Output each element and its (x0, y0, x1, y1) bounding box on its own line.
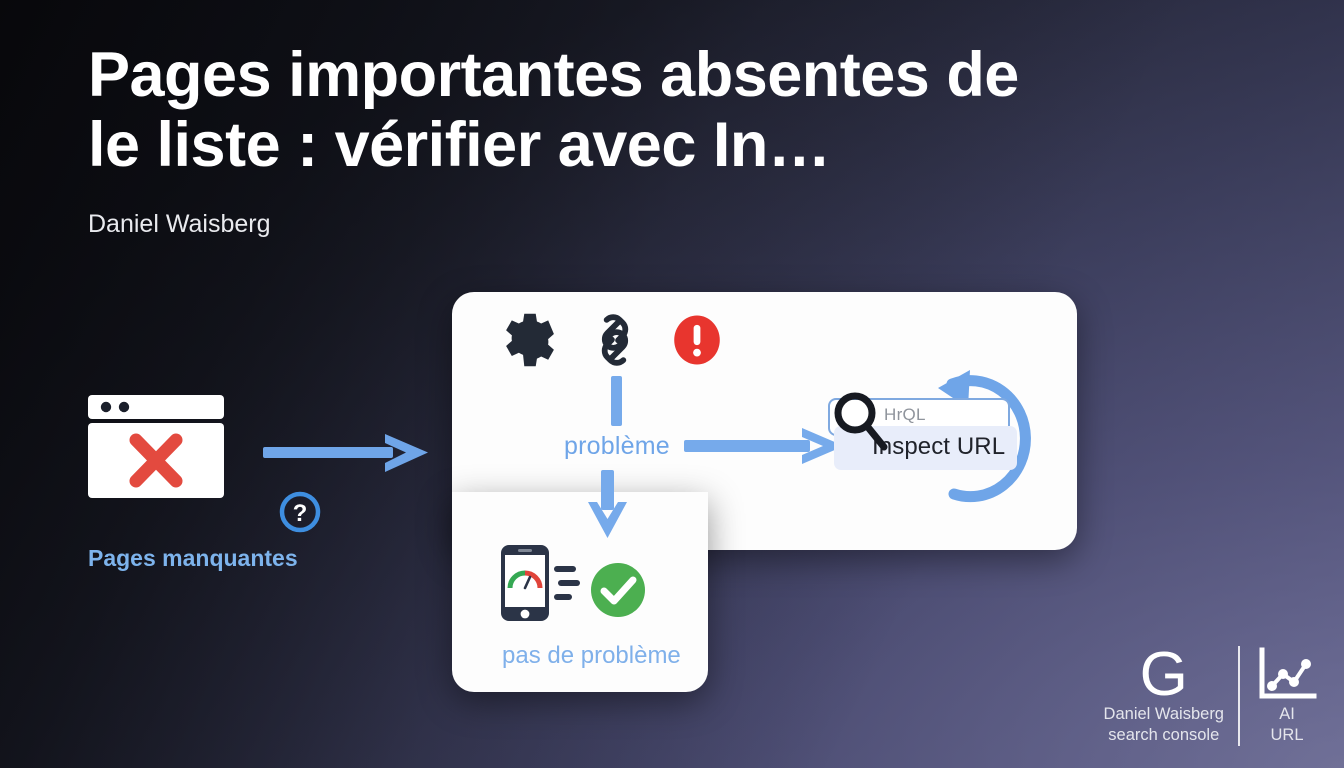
search-console-brand: G Daniel Waisberg search console (1104, 646, 1224, 746)
branch-problem-label: problème (564, 432, 670, 461)
phone-speed-gauge-icon (500, 544, 550, 622)
missing-pages-label: Pages manquantes (88, 545, 298, 572)
alert-error-icon (670, 313, 724, 367)
page-title: Pages importantes absentes de le liste :… (88, 40, 1038, 180)
inspect-url-label: Inspect URL (872, 433, 1005, 461)
question-circle-icon[interactable]: ? (278, 490, 322, 534)
brand-right-line2: URL (1270, 725, 1303, 746)
search-placeholder: HrQL (884, 405, 926, 425)
check-circle-icon (590, 562, 646, 618)
ai-url-brand: AI URL (1238, 646, 1318, 746)
branch-ok-label: pas de problème (502, 642, 681, 670)
svg-text:?: ? (293, 500, 308, 527)
author-name: Daniel Waisberg (88, 210, 1038, 239)
speed-lines-icon (554, 564, 580, 606)
diagram-card-content: problème HrQL Inspect URL (452, 292, 1077, 692)
arrow-down-icon (578, 470, 644, 540)
magnifier-icon (832, 390, 888, 452)
slide-header: Pages importantes absentes de le liste :… (88, 40, 1038, 239)
status-icon-row (500, 310, 724, 370)
browser-window-error-icon (88, 395, 224, 498)
vertical-connector (611, 376, 622, 426)
line-chart-icon (1256, 646, 1318, 704)
gear-icon (500, 310, 560, 370)
brand-left-line1: Daniel Waisberg (1104, 704, 1224, 725)
missing-pages-node: Pages manquantes ? (88, 395, 224, 503)
branding-footer: G Daniel Waisberg search console AI URL (1104, 646, 1318, 746)
flow-arrow-icon (263, 432, 431, 474)
arrow-right-icon (684, 424, 848, 468)
link-chain-icon (586, 311, 644, 369)
google-g-icon: G (1140, 646, 1188, 704)
inspect-url-group[interactable]: HrQL Inspect URL (828, 366, 1043, 506)
brand-left-line2: search console (1108, 725, 1219, 746)
brand-right-line1: AI (1279, 704, 1295, 725)
